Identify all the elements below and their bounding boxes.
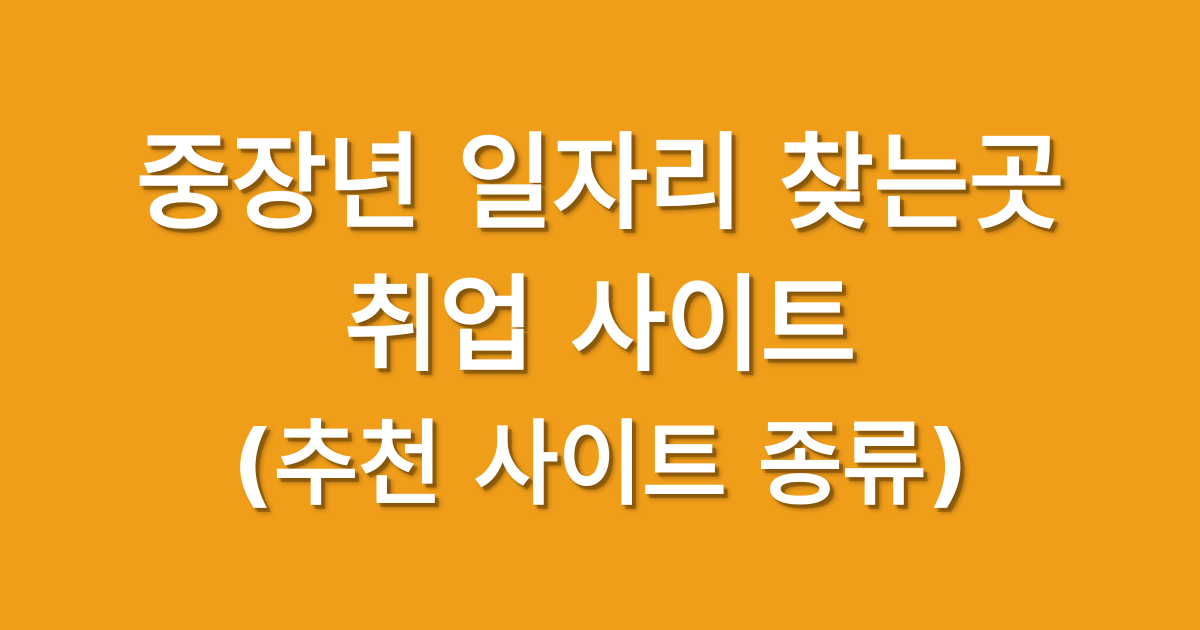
headline-line-2: 취업 사이트 xyxy=(0,254,1200,396)
headline-block: 중장년 일자리 찾는곳 취업 사이트 (추천 사이트 종류) xyxy=(0,0,1200,534)
headline-line-3-subnote: (추천 사이트 종류) xyxy=(0,396,1200,534)
headline-line-1: 중장년 일자리 찾는곳 xyxy=(0,112,1200,254)
thumbnail-banner: 중장년 일자리 찾는곳 취업 사이트 (추천 사이트 종류) xyxy=(0,0,1200,630)
